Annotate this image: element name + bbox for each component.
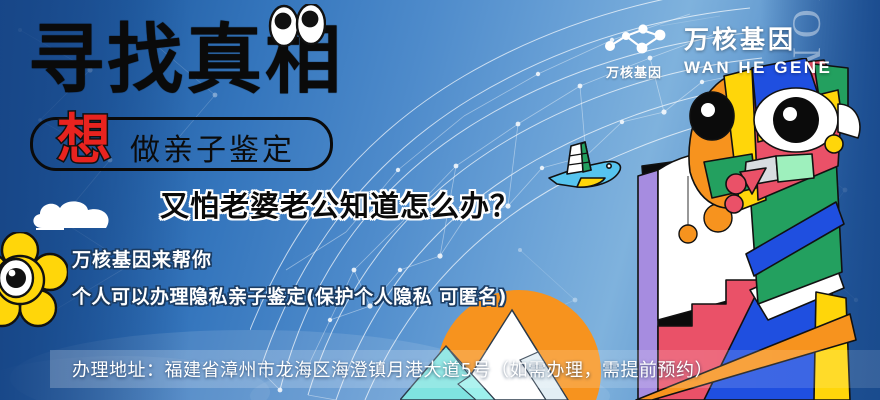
cartoon-eyes-icon — [268, 4, 326, 48]
body-line-1: 万核基因来帮你 — [72, 245, 212, 272]
molecule-icon — [602, 24, 668, 58]
body-line-2: 个人可以办理隐私亲子鉴定(保护个人隐私 可匿名) — [72, 282, 507, 309]
picasso-portrait-illustration — [600, 58, 868, 400]
want-character-badge: 想 — [57, 113, 111, 167]
logo-mark: 万核基因 — [598, 24, 670, 80]
logo-name-en: WAN HE GENE — [684, 59, 832, 76]
logo-name-cn: 万核基因 — [684, 28, 832, 53]
promo-banner: WOMEN'S DAY — [0, 0, 880, 400]
logo-text: 万核基因 WAN HE GENE — [684, 28, 832, 76]
dove-icon — [547, 140, 625, 196]
brand-logo[interactable]: 万核基因 万核基因 WAN HE GENE — [598, 24, 832, 80]
flower-eye-icon — [0, 232, 68, 328]
address-text: 办理地址：福建省漳州市龙海区海澄镇月港大道5号（如需办理，需提前预约） — [72, 356, 713, 382]
logo-mark-label: 万核基因 — [598, 62, 670, 81]
cloud-icon — [30, 198, 116, 230]
sub-headline: 又怕老婆老公知道怎么办？ — [160, 183, 520, 225]
pill-label: 做亲子鉴定 — [130, 125, 295, 169]
